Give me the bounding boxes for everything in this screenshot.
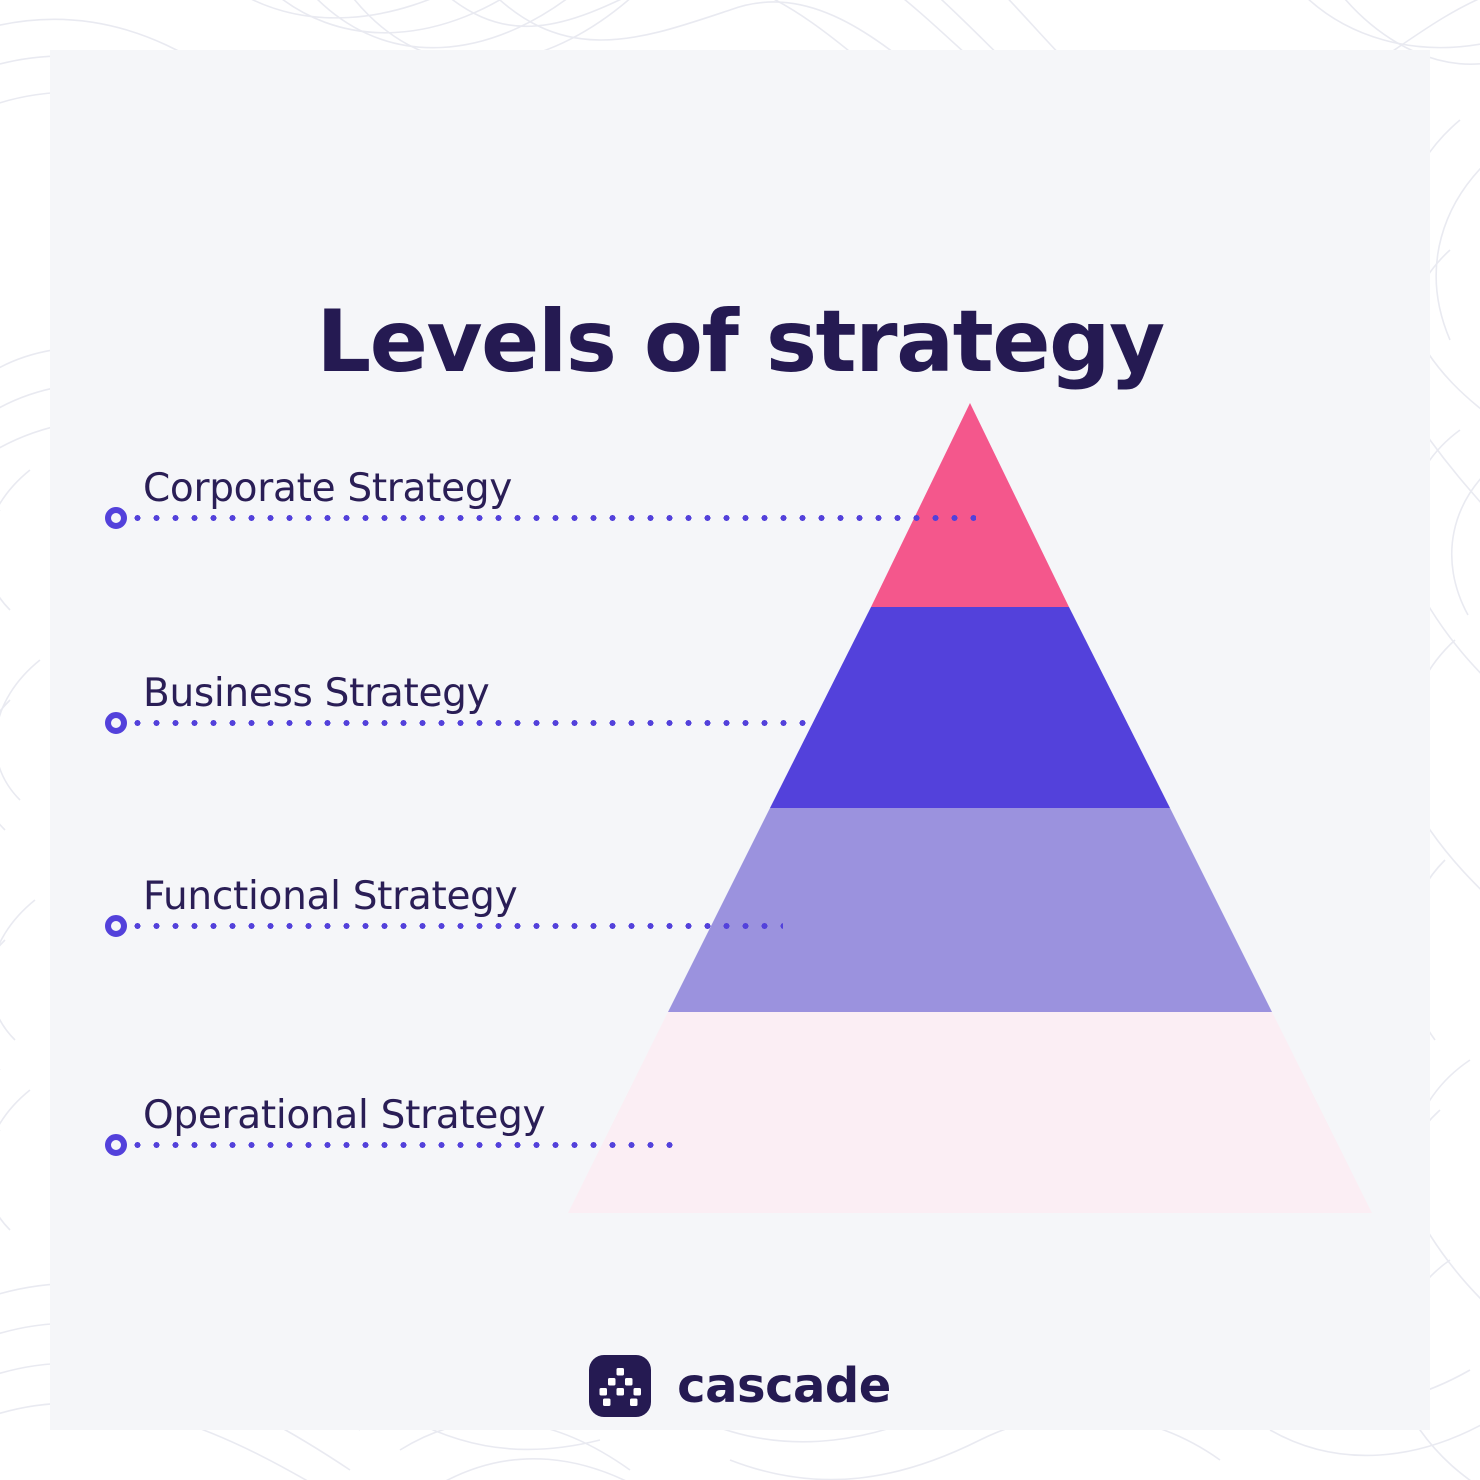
legend-marker-operational[interactable] <box>105 1134 127 1156</box>
legend-connector-corporate <box>128 515 976 521</box>
legend-marker-functional[interactable] <box>105 915 127 937</box>
content-card: Levels of strategy Corporate Strategy Bu… <box>50 50 1430 1430</box>
strategy-pyramid <box>50 50 1430 1430</box>
legend-connector-functional <box>128 923 783 929</box>
cascade-pyramid-icon <box>589 1355 651 1417</box>
infographic-canvas: Levels of strategy Corporate Strategy Bu… <box>0 0 1480 1480</box>
page-title: Levels of strategy <box>50 290 1430 394</box>
legend-marker-corporate[interactable] <box>105 507 127 529</box>
legend-row-operational[interactable]: Operational Strategy <box>50 1092 1050 1162</box>
legend-row-business[interactable]: Business Strategy <box>50 670 1050 740</box>
legend-row-corporate[interactable]: Corporate Strategy <box>50 465 1050 535</box>
footer-brand[interactable]: cascade <box>50 1355 1430 1417</box>
legend-label-business: Business Strategy <box>143 670 489 718</box>
legend-connector-business <box>128 720 868 726</box>
legend-label-corporate: Corporate Strategy <box>143 465 512 513</box>
legend-connector-operational <box>128 1142 673 1148</box>
legend-row-functional[interactable]: Functional Strategy <box>50 873 1050 943</box>
legend-marker-business[interactable] <box>105 712 127 734</box>
legend-label-functional: Functional Strategy <box>143 873 517 921</box>
brand-wordmark: cascade <box>677 1358 891 1414</box>
legend-label-operational: Operational Strategy <box>143 1092 545 1140</box>
